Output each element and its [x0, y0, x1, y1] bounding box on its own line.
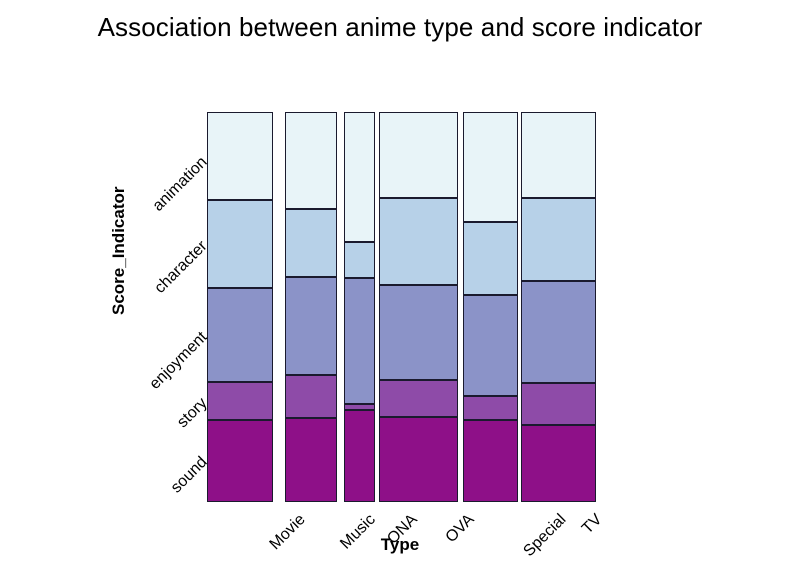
- bar-segment-movie-enjoyment[interactable]: [207, 288, 273, 382]
- bar-segment-ova-sound[interactable]: [379, 417, 458, 502]
- bar-column-special[interactable]: [463, 112, 518, 502]
- bar-segment-ova-enjoyment[interactable]: [379, 285, 458, 380]
- bar-segment-music-story[interactable]: [285, 375, 337, 418]
- bar-segment-ona-sound[interactable]: [344, 410, 375, 502]
- bar-segment-ona-character[interactable]: [344, 242, 375, 278]
- bar-segment-special-sound[interactable]: [463, 420, 518, 502]
- chart-figure: Association between anime type and score…: [0, 0, 800, 571]
- bar-segment-music-sound[interactable]: [285, 418, 337, 502]
- bar-segment-movie-animation[interactable]: [207, 112, 273, 200]
- bar-segment-tv-sound[interactable]: [521, 425, 596, 502]
- bar-column-ova[interactable]: [379, 112, 458, 502]
- bar-segment-music-animation[interactable]: [285, 112, 337, 209]
- bar-segment-music-enjoyment[interactable]: [285, 277, 337, 375]
- bar-segment-movie-story[interactable]: [207, 382, 273, 420]
- bar-segment-special-animation[interactable]: [463, 112, 518, 222]
- bar-segment-movie-character[interactable]: [207, 200, 273, 288]
- bar-column-music[interactable]: [285, 112, 337, 502]
- bar-segment-tv-character[interactable]: [521, 198, 596, 281]
- bar-segment-ova-character[interactable]: [379, 198, 458, 285]
- bar-segment-ova-animation[interactable]: [379, 112, 458, 198]
- bar-column-ona[interactable]: [344, 112, 375, 502]
- bar-segment-special-story[interactable]: [463, 396, 518, 420]
- bar-segment-ona-enjoyment[interactable]: [344, 278, 375, 404]
- bar-segment-ova-story[interactable]: [379, 380, 458, 417]
- bar-column-movie[interactable]: [207, 112, 273, 502]
- bar-segment-special-enjoyment[interactable]: [463, 295, 518, 396]
- bar-segment-tv-story[interactable]: [521, 383, 596, 425]
- bar-column-tv[interactable]: [521, 112, 596, 502]
- bar-segment-ona-animation[interactable]: [344, 112, 375, 242]
- bar-segment-tv-enjoyment[interactable]: [521, 281, 596, 383]
- bar-segment-music-character[interactable]: [285, 209, 337, 277]
- bar-segment-movie-sound[interactable]: [207, 420, 273, 502]
- bar-segment-special-character[interactable]: [463, 222, 518, 295]
- bar-segment-tv-animation[interactable]: [521, 112, 596, 198]
